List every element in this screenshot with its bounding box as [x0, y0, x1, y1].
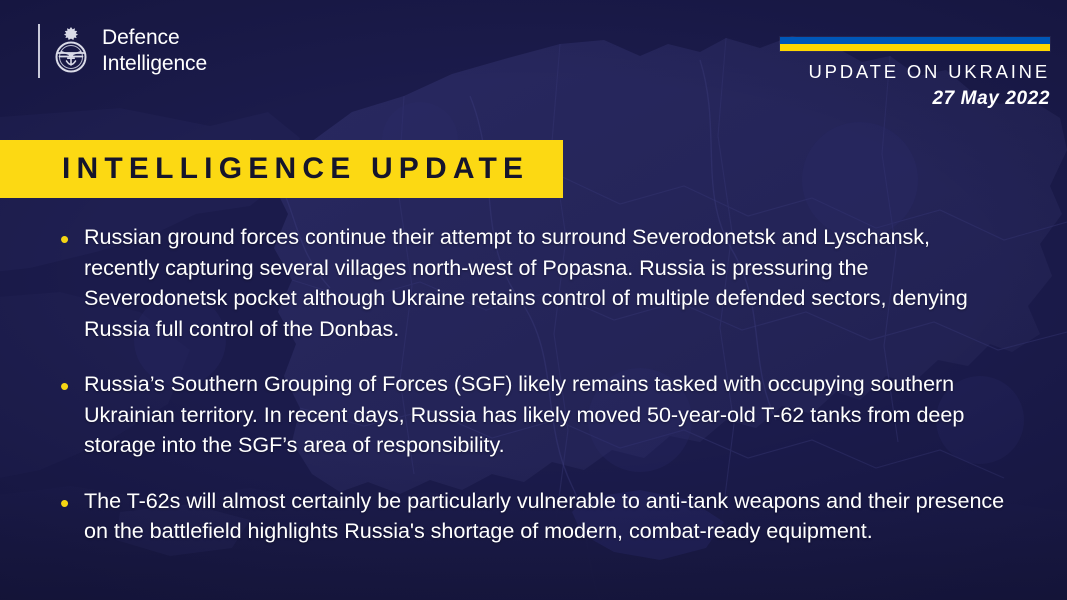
bullet-text: The T-62s will almost certainly be parti… — [84, 486, 1007, 547]
royal-crest-icon — [51, 25, 91, 77]
flag-blue-stripe — [780, 37, 1050, 44]
defence-intelligence-logo: Defence Intelligence — [38, 24, 207, 78]
bullet-text: Russian ground forces continue their att… — [84, 222, 1007, 344]
list-item: • Russia’s Southern Grouping of Forces (… — [56, 369, 1007, 461]
banner-title: INTELLIGENCE UPDATE — [62, 154, 529, 184]
list-item: • Russian ground forces continue their a… — [56, 222, 1007, 344]
intelligence-update-slide: Defence Intelligence UPDATE ON UKRAINE 2… — [0, 0, 1067, 600]
flag-yellow-stripe — [780, 44, 1050, 51]
bullet-dot-icon: • — [56, 222, 84, 256]
slide-header: Defence Intelligence UPDATE ON UKRAINE 2… — [0, 0, 1067, 130]
intelligence-update-banner: INTELLIGENCE UPDATE — [0, 140, 563, 198]
update-date: 27 May 2022 — [808, 87, 1050, 111]
bullet-text: Russia’s Southern Grouping of Forces (SG… — [84, 369, 1007, 461]
update-on-ukraine-label: UPDATE ON UKRAINE — [808, 60, 1050, 85]
bullet-dot-icon: • — [56, 369, 84, 403]
list-item: • The T-62s will almost certainly be par… — [56, 486, 1007, 547]
bullet-list: • Russian ground forces continue their a… — [0, 222, 1067, 547]
logo-text: Defence Intelligence — [102, 25, 207, 76]
bullet-dot-icon: • — [56, 486, 84, 520]
ukraine-flag-icon — [780, 37, 1050, 51]
vertical-rule-icon — [38, 24, 40, 78]
header-right-block: UPDATE ON UKRAINE 27 May 2022 — [808, 60, 1050, 111]
